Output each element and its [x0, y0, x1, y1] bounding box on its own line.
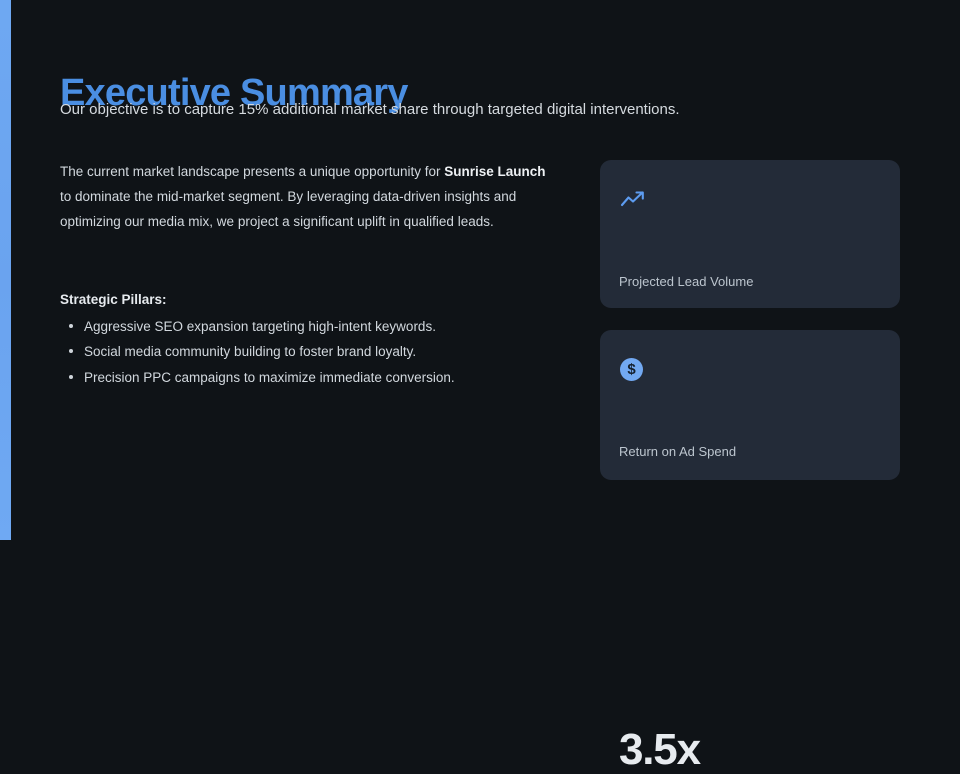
- intro-paragraph-emphasis: Sunrise Launch: [444, 164, 545, 179]
- dollar-circle-icon: $: [620, 356, 646, 382]
- stat-value: 3.5x: [619, 727, 700, 773]
- dollar-sign-glyph: $: [620, 358, 643, 381]
- list-item-label: Precision PPC campaigns to maximize imme…: [84, 370, 455, 385]
- bullet-icon: [69, 324, 73, 328]
- left-accent-bar: [0, 0, 11, 540]
- strategic-pillars-heading: Strategic Pillars:: [60, 291, 167, 309]
- list-item: Social media community building to foste…: [60, 339, 530, 364]
- strategic-pillars-list: Aggressive SEO expansion targeting high-…: [60, 314, 530, 390]
- stat-card-projected-lead-volume: +45% Projected Lead Volume: [600, 160, 900, 308]
- page-subtitle: Our objective is to capture 15% addition…: [60, 99, 680, 120]
- intro-paragraph-suffix: to dominate the mid-market segment. By l…: [60, 189, 516, 229]
- intro-paragraph: The current market landscape presents a …: [60, 159, 560, 235]
- list-item: Aggressive SEO expansion targeting high-…: [60, 314, 530, 339]
- list-item-label: Social media community building to foste…: [84, 344, 416, 359]
- stat-card-return-on-ad-spend: $ 3.5x Return on Ad Spend: [600, 330, 900, 480]
- body-text-column: The current market landscape presents a …: [60, 159, 560, 235]
- bullet-icon: [69, 375, 73, 379]
- trending-up-icon: [620, 186, 646, 212]
- list-item-label: Aggressive SEO expansion targeting high-…: [84, 319, 436, 334]
- slide-canvas: Executive Summary Our objective is to ca…: [0, 0, 960, 540]
- intro-paragraph-prefix: The current market landscape presents a …: [60, 164, 444, 179]
- bullet-icon: [69, 349, 73, 353]
- stat-label: Return on Ad Spend: [619, 443, 736, 460]
- list-item: Precision PPC campaigns to maximize imme…: [60, 365, 530, 390]
- stat-label: Projected Lead Volume: [619, 273, 753, 290]
